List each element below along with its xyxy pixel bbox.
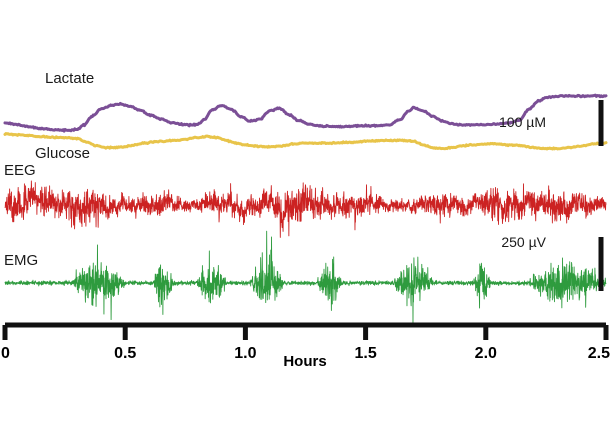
x-tick-label: 1.0 bbox=[234, 345, 256, 362]
emg-label: EMG bbox=[4, 252, 38, 269]
glucose-label: Glucose bbox=[35, 145, 90, 162]
x-tick-label: 1.5 bbox=[354, 345, 376, 362]
x-axis-title: Hours bbox=[283, 353, 326, 370]
x-tick-label: 0.5 bbox=[114, 345, 136, 362]
x-tick-label: 0 bbox=[1, 345, 10, 362]
chem-scale-label: 100 µM bbox=[499, 114, 546, 130]
timeseries-plot: Lactate Glucose 100 µM EEG EMG 250 µV 00… bbox=[0, 0, 616, 424]
x-tick-label: 2.5 bbox=[588, 345, 610, 362]
lactate-label: Lactate bbox=[45, 70, 94, 87]
eeg-label: EEG bbox=[4, 162, 36, 179]
electro-scale-label: 250 µV bbox=[501, 234, 546, 250]
figure-panel: Lactate Glucose 100 µM EEG EMG 250 µV 00… bbox=[0, 0, 616, 424]
x-tick-label: 2.0 bbox=[475, 345, 497, 362]
